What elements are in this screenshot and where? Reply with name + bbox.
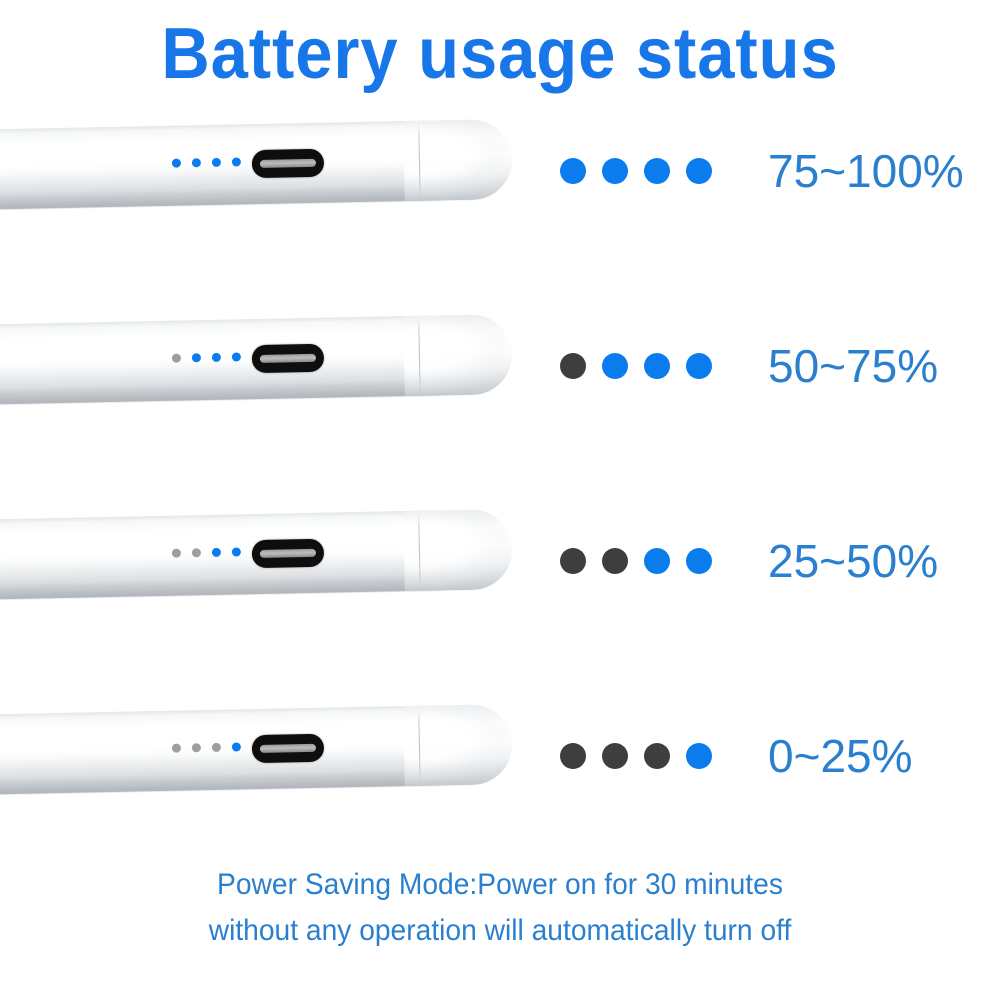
legend-dot bbox=[602, 548, 628, 574]
usb-c-port-icon bbox=[252, 149, 325, 178]
legend-dot bbox=[686, 353, 712, 379]
legend-dot bbox=[560, 353, 586, 379]
legend-dot-group bbox=[560, 353, 720, 381]
stylus-pen-icon bbox=[0, 506, 520, 616]
pen-led-indicators bbox=[172, 352, 248, 368]
battery-status-infographic: Battery usage status bbox=[0, 0, 1000, 1000]
power-saving-caption: Power Saving Mode:Power on for 30 minute… bbox=[0, 862, 1000, 954]
legend-dot bbox=[644, 548, 670, 574]
legend-dot bbox=[644, 353, 670, 379]
battery-status-row: 75~100% bbox=[0, 110, 1000, 270]
pen-led-indicators bbox=[172, 742, 248, 758]
usb-c-port-icon bbox=[252, 539, 325, 568]
battery-status-row: 50~75% bbox=[0, 305, 1000, 465]
legend-dot bbox=[560, 158, 586, 184]
battery-range-label: 25~50% bbox=[768, 530, 998, 592]
caption-line-2: without any operation will automatically… bbox=[30, 908, 970, 954]
stylus-pen-icon bbox=[0, 116, 520, 226]
legend-dot bbox=[686, 158, 712, 184]
battery-status-row: 0~25% bbox=[0, 695, 1000, 855]
legend-dot bbox=[644, 743, 670, 769]
page-title: Battery usage status bbox=[35, 14, 965, 94]
legend-dot bbox=[686, 548, 712, 574]
usb-c-port-icon bbox=[252, 734, 325, 763]
usb-c-port-icon bbox=[252, 344, 325, 373]
stylus-pen-icon bbox=[0, 311, 520, 421]
battery-status-row: 25~50% bbox=[0, 500, 1000, 660]
stylus-pen-icon bbox=[0, 701, 520, 811]
legend-dot bbox=[602, 353, 628, 379]
legend-dot bbox=[602, 158, 628, 184]
legend-dot-group bbox=[560, 158, 720, 186]
legend-dot bbox=[644, 158, 670, 184]
pen-led-indicators bbox=[172, 157, 248, 173]
legend-dot-group bbox=[560, 743, 720, 771]
battery-range-label: 75~100% bbox=[768, 140, 998, 202]
caption-line-1: Power Saving Mode:Power on for 30 minute… bbox=[30, 862, 970, 908]
legend-dot bbox=[560, 548, 586, 574]
battery-range-label: 50~75% bbox=[768, 335, 998, 397]
pen-led-indicators bbox=[172, 547, 248, 563]
legend-dot bbox=[686, 743, 712, 769]
legend-dot-group bbox=[560, 548, 720, 576]
legend-dot bbox=[602, 743, 628, 769]
legend-dot bbox=[560, 743, 586, 769]
battery-range-label: 0~25% bbox=[768, 725, 998, 787]
